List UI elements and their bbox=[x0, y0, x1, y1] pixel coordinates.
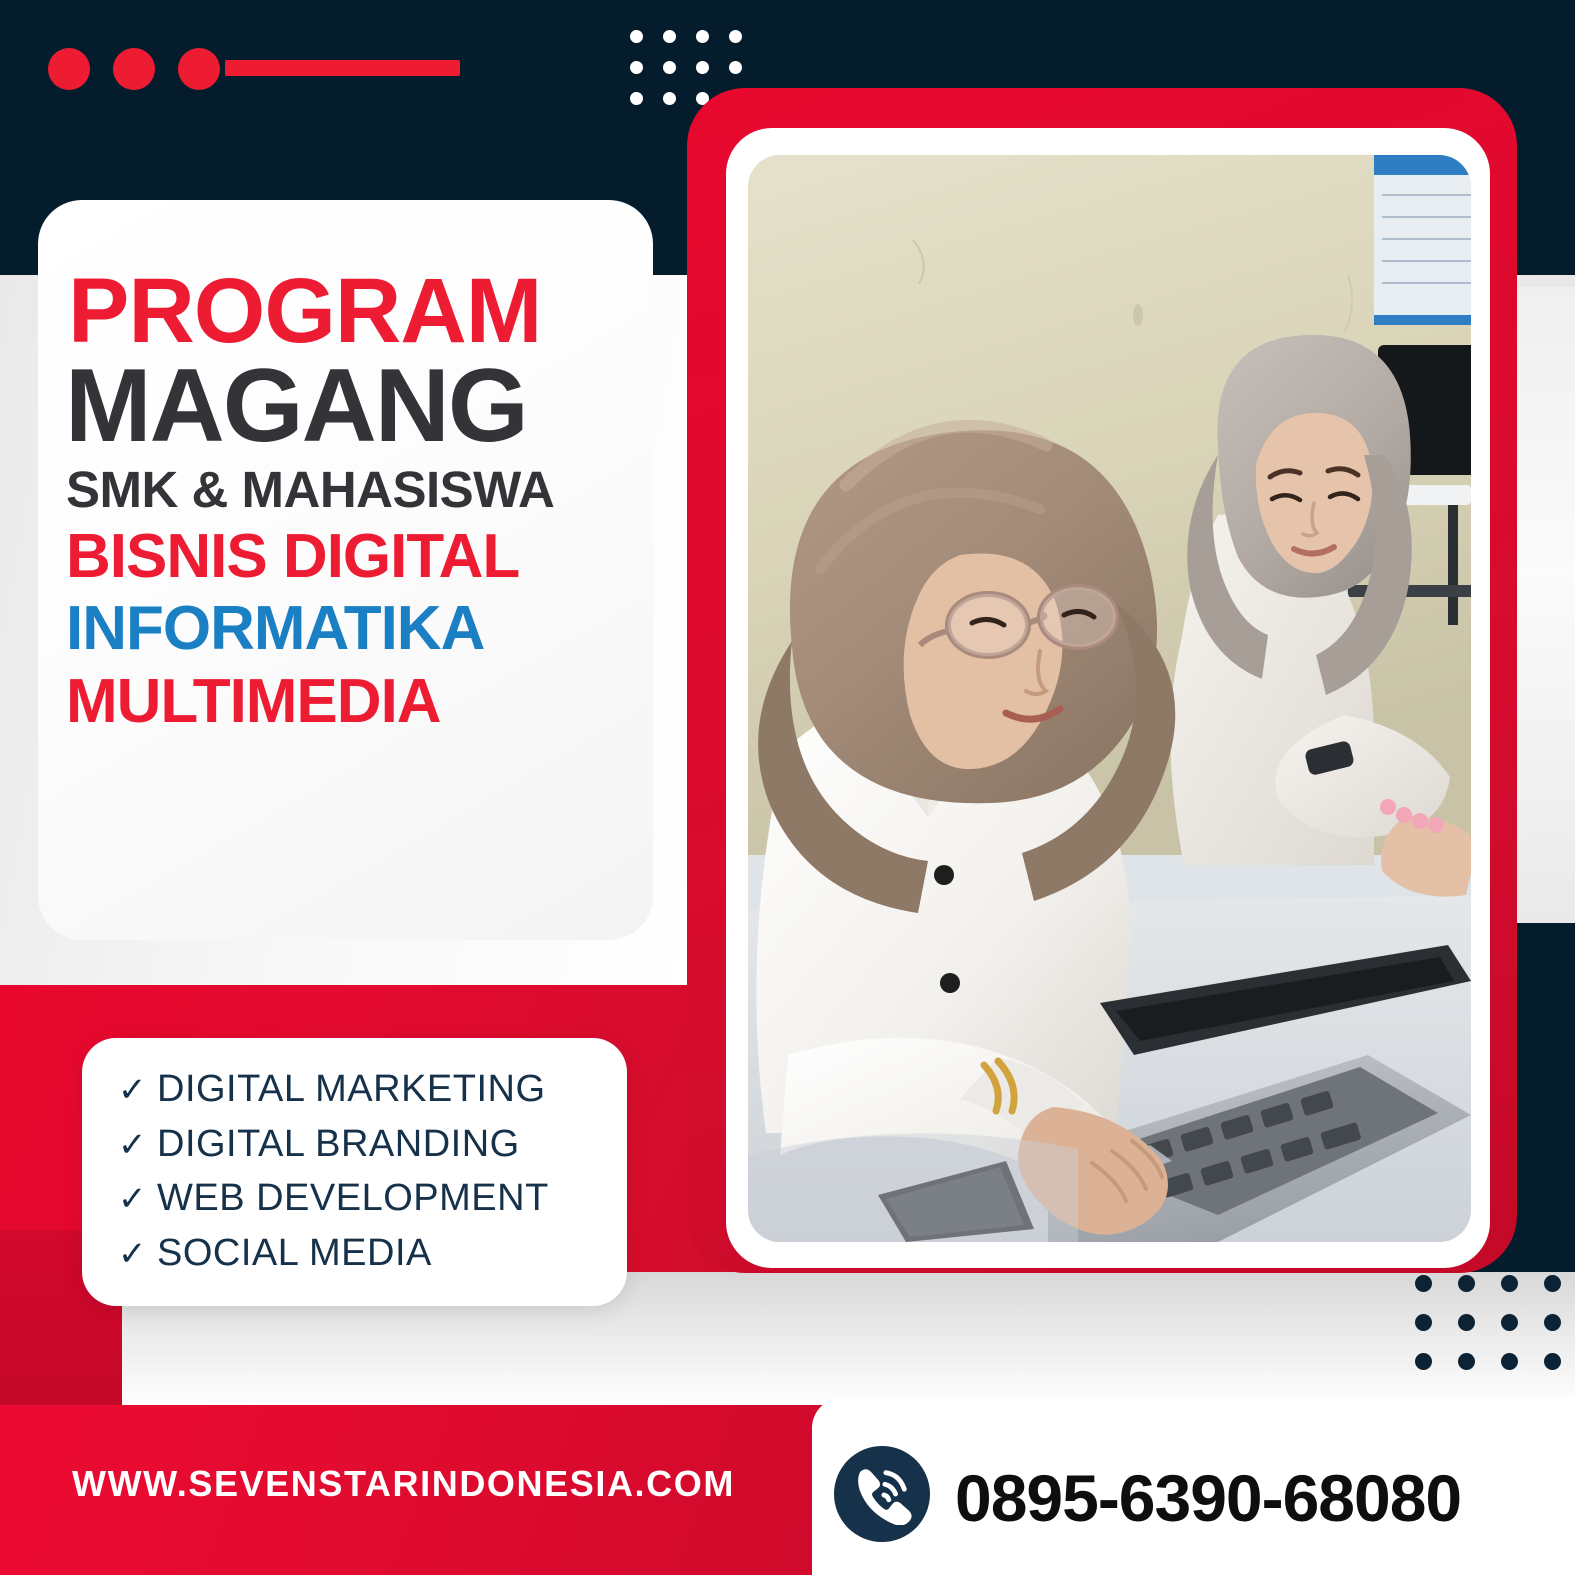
phone-call-glyph bbox=[851, 1463, 913, 1525]
check-icon: ✓ bbox=[118, 1230, 147, 1279]
headline-informatika: INFORMATIKA bbox=[66, 600, 680, 658]
red-dot-1 bbox=[48, 48, 90, 90]
list-item: ✓ SOCIAL MEDIA bbox=[118, 1226, 638, 1281]
list-item-label: DIGITAL BRANDING bbox=[157, 1117, 520, 1172]
check-icon: ✓ bbox=[118, 1066, 147, 1115]
red-dot-2 bbox=[113, 48, 155, 90]
list-item-label: WEB DEVELOPMENT bbox=[157, 1171, 549, 1226]
feature-list: ✓ DIGITAL MARKETING ✓ DIGITAL BRANDING ✓… bbox=[118, 1062, 638, 1281]
headline-multimedia: MULTIMEDIA bbox=[66, 673, 680, 731]
phone-call-icon bbox=[834, 1446, 930, 1542]
poster-root: PROGRAM MAGANG SMK & MAHASISWA BISNIS DI… bbox=[0, 0, 1575, 1575]
list-item-label: DIGITAL MARKETING bbox=[157, 1062, 546, 1117]
red-dot-3 bbox=[178, 48, 220, 90]
headline-bisnis-digital: BISNIS DIGITAL bbox=[66, 528, 680, 586]
top-red-dots bbox=[48, 48, 220, 90]
hero-photo-illustration bbox=[748, 155, 1471, 1242]
list-item: ✓ WEB DEVELOPMENT bbox=[118, 1171, 638, 1226]
check-icon: ✓ bbox=[118, 1121, 147, 1170]
phone-number[interactable]: 0895-6390-68080 bbox=[955, 1460, 1461, 1536]
headline-magang: MAGANG bbox=[65, 358, 680, 456]
list-item-label: SOCIAL MEDIA bbox=[157, 1226, 432, 1281]
dot-grid-navy-icon bbox=[1415, 1275, 1561, 1370]
list-item: ✓ DIGITAL BRANDING bbox=[118, 1117, 638, 1172]
check-icon: ✓ bbox=[118, 1175, 147, 1224]
hero-photo bbox=[748, 155, 1471, 1242]
top-red-bar bbox=[225, 60, 460, 76]
headline-block: PROGRAM MAGANG SMK & MAHASISWA BISNIS DI… bbox=[60, 268, 680, 731]
headline-smk-mahasiswa: SMK & MAHASISWA bbox=[66, 466, 680, 514]
headline-program: PROGRAM bbox=[68, 268, 680, 354]
website-url[interactable]: WWW.SEVENSTARINDONESIA.COM bbox=[72, 1463, 735, 1505]
list-item: ✓ DIGITAL MARKETING bbox=[118, 1062, 638, 1117]
